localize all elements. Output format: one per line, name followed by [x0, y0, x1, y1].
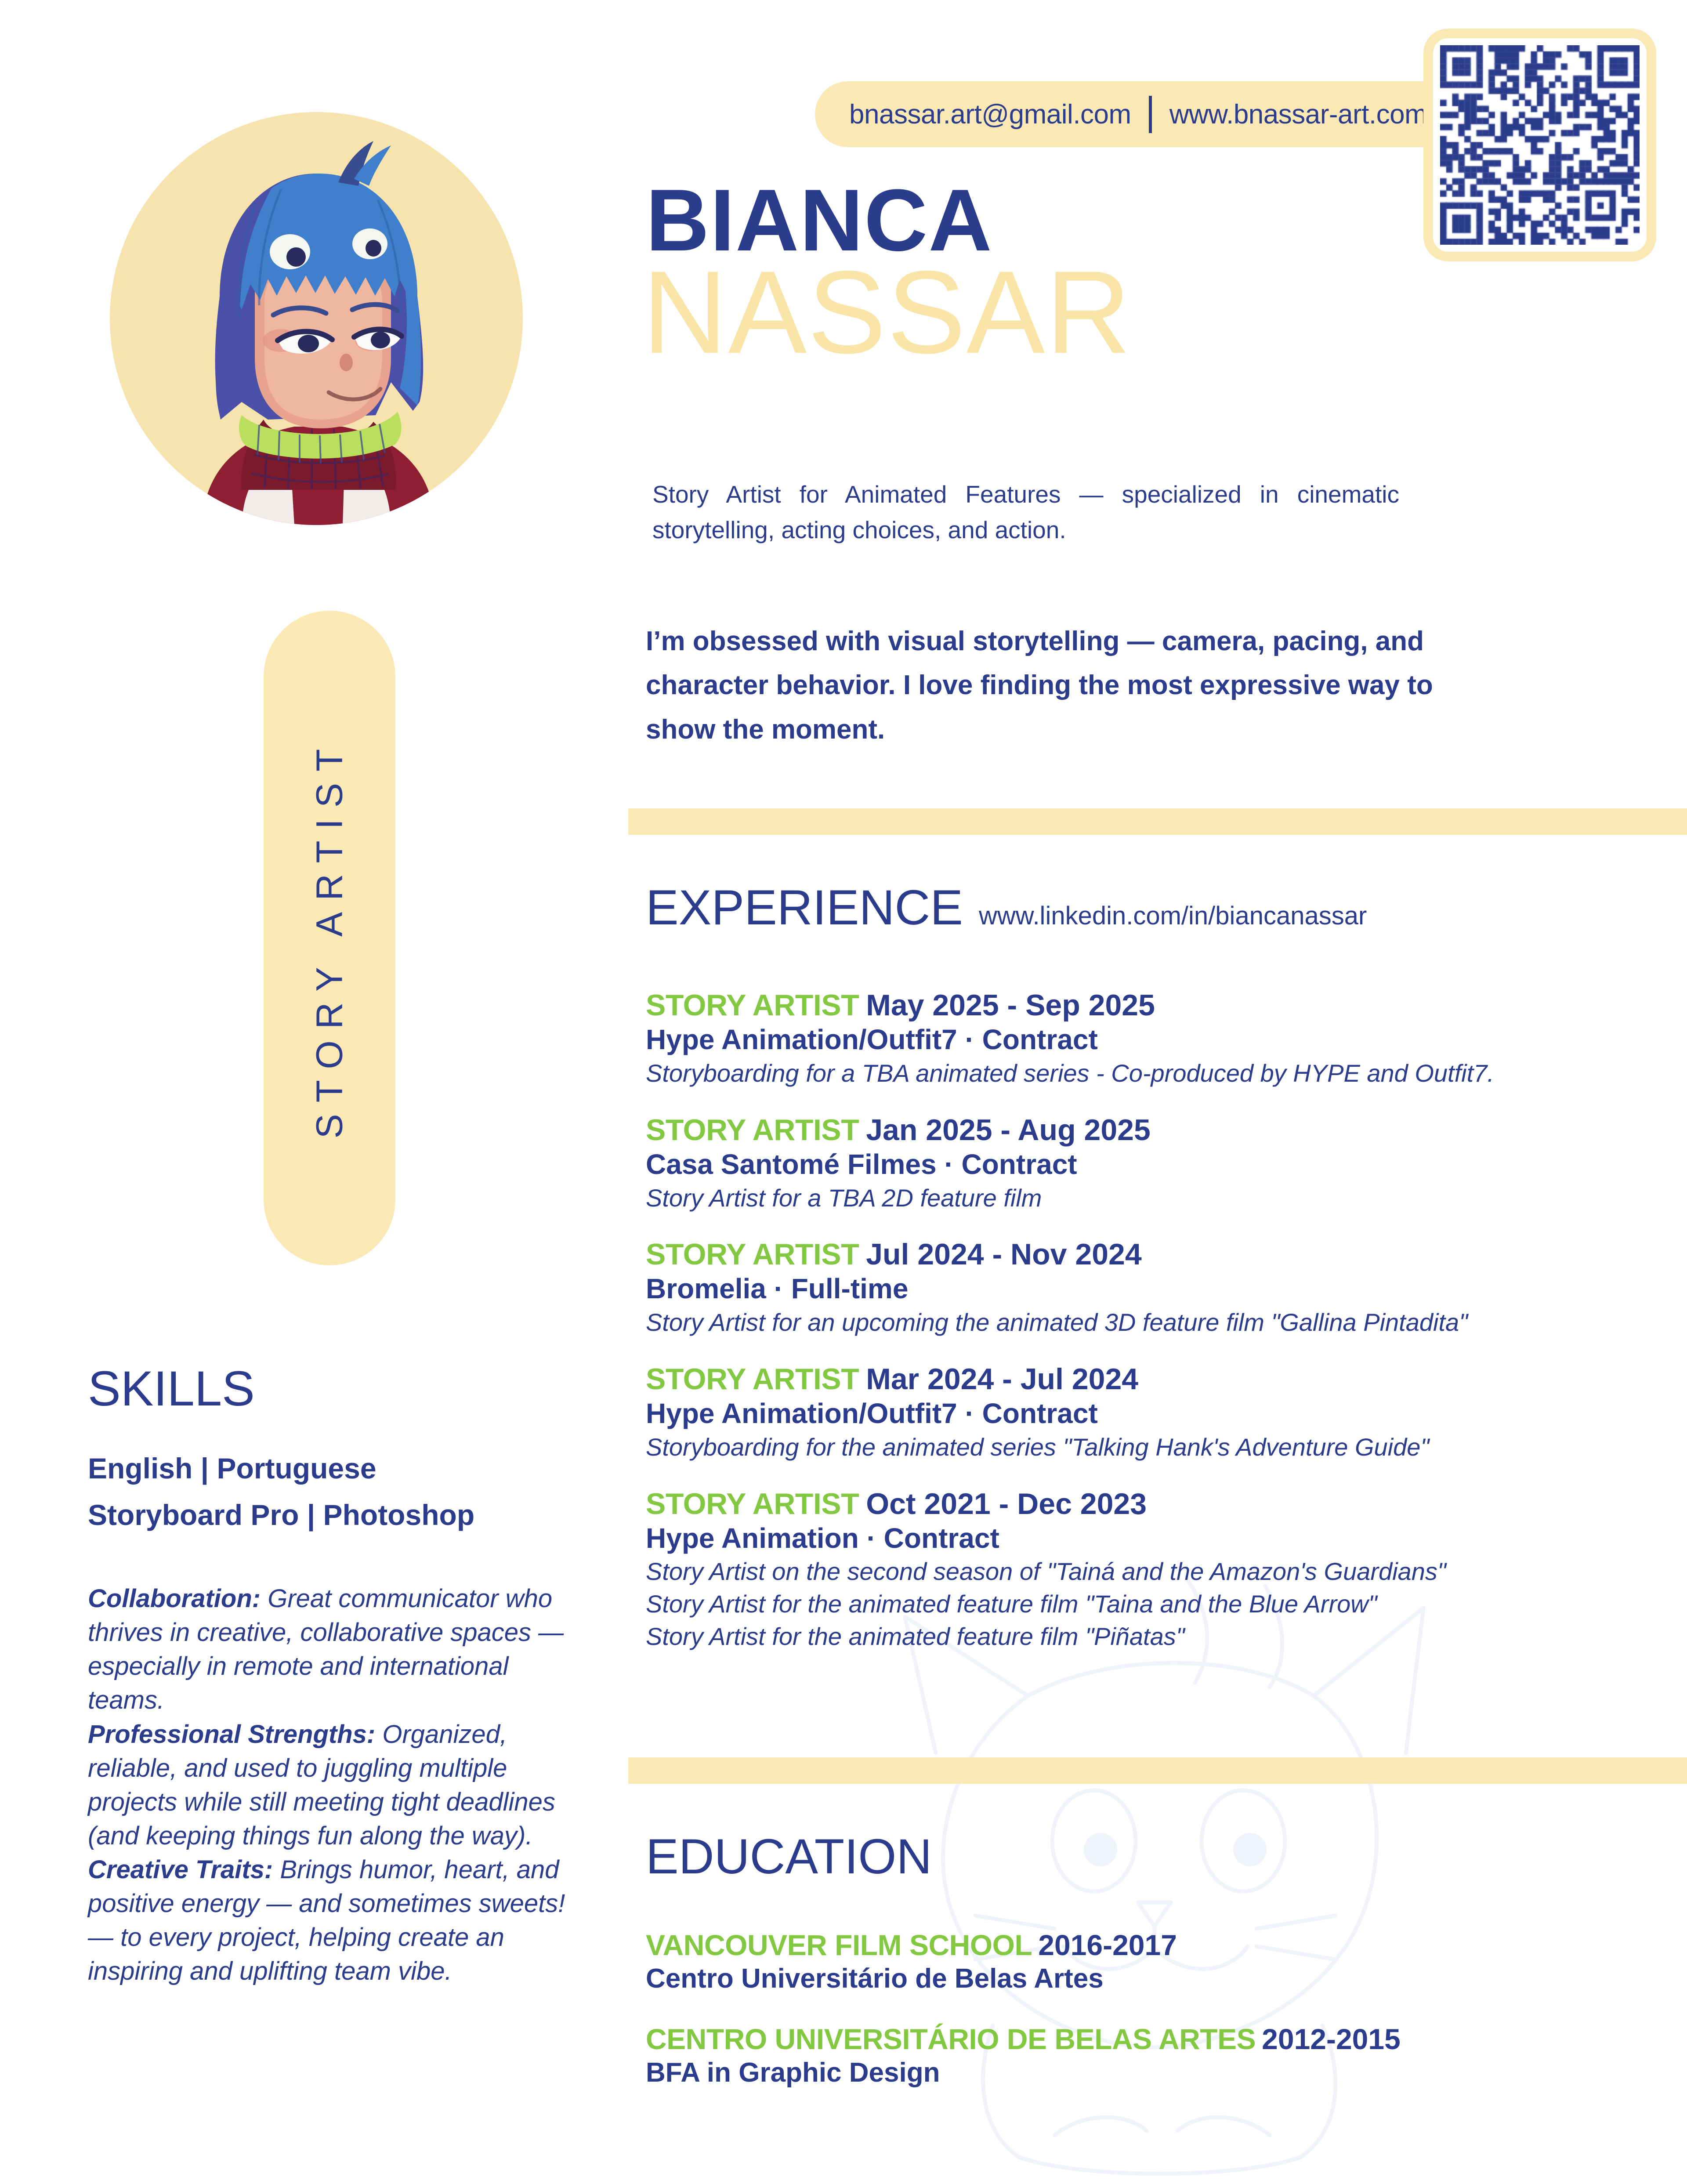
experience-role: STORY ARTIST	[646, 1487, 859, 1521]
soft-skill-label: Collaboration:	[88, 1584, 261, 1613]
email-text[interactable]: bnassar.art@gmail.com	[849, 99, 1131, 130]
education-school: VANCOUVER FILM SCHOOL	[646, 1929, 1032, 1961]
role-tagline: Story Artist for Animated Features — spe…	[652, 477, 1399, 548]
soft-skill-paragraph: Creative Traits: Brings humor, heart, an…	[88, 1853, 576, 1988]
story-artist-vertical-pill: STORY ARTIST	[264, 611, 395, 1265]
soft-skills-list: Collaboration: Great communicator who th…	[88, 1582, 576, 1988]
skills-title: SKILLS	[88, 1364, 255, 1413]
experience-dates: Oct 2021 - Dec 2023	[866, 1487, 1147, 1521]
avatar	[110, 112, 523, 525]
education-entry: CENTRO UNIVERSITÁRIO DE BELAS ARTES2012-…	[646, 2023, 1665, 2090]
experience-dates: Mar 2024 - Jul 2024	[866, 1362, 1138, 1396]
soft-skill-paragraph: Collaboration: Great communicator who th…	[88, 1582, 576, 1717]
education-detail: BFA in Graphic Design	[646, 2057, 1665, 2089]
experience-description: Story Artist for the animated feature fi…	[646, 1621, 1665, 1652]
experience-company: Hype Animation/Outfit7 · Contract	[646, 1023, 1665, 1057]
education-title: EDUCATION	[646, 1832, 932, 1881]
education-school-years: CENTRO UNIVERSITÁRIO DE BELAS ARTES2012-…	[646, 2023, 1665, 2056]
experience-role: STORY ARTIST	[646, 989, 859, 1022]
soft-skill-label: Professional Strengths:	[88, 1720, 375, 1749]
summary-statement: I’m obsessed with visual storytelling — …	[646, 619, 1507, 752]
website-text[interactable]: www.bnassar-art.com	[1169, 99, 1427, 130]
experience-description: Story Artist for the animated feature fi…	[646, 1588, 1665, 1620]
soft-skill-paragraph: Professional Strengths: Organized, relia…	[88, 1717, 576, 1853]
education-school: CENTRO UNIVERSITÁRIO DE BELAS ARTES	[646, 2023, 1256, 2055]
experience-company: Hype Animation/Outfit7 · Contract	[646, 1397, 1665, 1431]
experience-list: STORY ARTISTMay 2025 - Sep 2025Hype Anim…	[646, 989, 1665, 1676]
experience-company: Hype Animation · Contract	[646, 1521, 1665, 1555]
experience-description: Story Artist on the second season of "Ta…	[646, 1556, 1665, 1587]
skill-line: English | Portuguese	[88, 1445, 571, 1492]
education-school-years: VANCOUVER FILM SCHOOL2016-2017	[646, 1929, 1665, 1962]
skills-lines: English | PortugueseStoryboard Pro | Pho…	[88, 1445, 571, 1538]
experience-role: STORY ARTIST	[646, 1113, 859, 1147]
experience-company: Bromelia · Full-time	[646, 1272, 1665, 1306]
experience-description: Storyboarding for the animated series "T…	[646, 1431, 1665, 1463]
qr-code-canvas	[1440, 45, 1640, 245]
experience-company: Casa Santomé Filmes · Contract	[646, 1148, 1665, 1181]
education-years: 2016-2017	[1038, 1929, 1177, 1961]
education-detail: Centro Universitário de Belas Artes	[646, 1963, 1665, 1995]
experience-dates: Jan 2025 - Aug 2025	[866, 1113, 1151, 1147]
experience-heading: EXPERIENCE www.linkedin.com/in/biancanas…	[646, 883, 1367, 932]
experience-role: STORY ARTIST	[646, 1238, 859, 1271]
education-list: VANCOUVER FILM SCHOOL2016-2017Centro Uni…	[646, 1929, 1665, 2116]
experience-dates: May 2025 - Sep 2025	[866, 989, 1155, 1022]
experience-role-dates: STORY ARTISTMay 2025 - Sep 2025	[646, 989, 1665, 1022]
name-block: BIANCA NASSAR	[646, 176, 1132, 369]
experience-entry: STORY ARTISTOct 2021 - Dec 2023Hype Anim…	[646, 1487, 1665, 1652]
experience-role-dates: STORY ARTISTJan 2025 - Aug 2025	[646, 1113, 1665, 1147]
experience-description: Story Artist for a TBA 2D feature film	[646, 1182, 1665, 1214]
experience-role: STORY ARTIST	[646, 1362, 859, 1396]
soft-skill-label: Creative Traits:	[88, 1855, 273, 1884]
experience-entry: STORY ARTISTMay 2025 - Sep 2025Hype Anim…	[646, 989, 1665, 1089]
experience-role-dates: STORY ARTISTJul 2024 - Nov 2024	[646, 1238, 1665, 1271]
experience-entry: STORY ARTISTJan 2025 - Aug 2025Casa Sant…	[646, 1113, 1665, 1214]
story-artist-vertical-label: STORY ARTIST	[308, 738, 351, 1139]
experience-description: Storyboarding for a TBA animated series …	[646, 1058, 1665, 1089]
education-years: 2012-2015	[1262, 2023, 1401, 2055]
last-name: NASSAR	[642, 256, 1132, 369]
experience-entry: STORY ARTISTJul 2024 - Nov 2024Bromelia …	[646, 1238, 1665, 1338]
skill-line: Storyboard Pro | Photoshop	[88, 1492, 571, 1539]
linkedin-url[interactable]: www.linkedin.com/in/biancanassar	[979, 903, 1367, 929]
experience-description: Story Artist for an upcoming the animate…	[646, 1307, 1665, 1338]
divider-bar-education	[628, 1757, 1687, 1784]
experience-role-dates: STORY ARTISTMar 2024 - Jul 2024	[646, 1362, 1665, 1396]
experience-dates: Jul 2024 - Nov 2024	[866, 1238, 1141, 1271]
experience-title: EXPERIENCE	[646, 883, 963, 932]
qr-code[interactable]	[1423, 29, 1656, 261]
education-entry: VANCOUVER FILM SCHOOL2016-2017Centro Uni…	[646, 1929, 1665, 1996]
experience-role-dates: STORY ARTISTOct 2021 - Dec 2023	[646, 1487, 1665, 1521]
avatar-illustration	[110, 112, 523, 525]
resume-page: bnassar.art@gmail.com www.bnassar-art.co…	[0, 0, 1687, 2184]
education-heading: EDUCATION	[646, 1832, 932, 1881]
experience-entry: STORY ARTISTMar 2024 - Jul 2024Hype Anim…	[646, 1362, 1665, 1463]
contact-separator	[1149, 96, 1152, 133]
divider-bar-experience	[628, 808, 1687, 835]
contact-pill: bnassar.art@gmail.com www.bnassar-art.co…	[815, 81, 1461, 147]
